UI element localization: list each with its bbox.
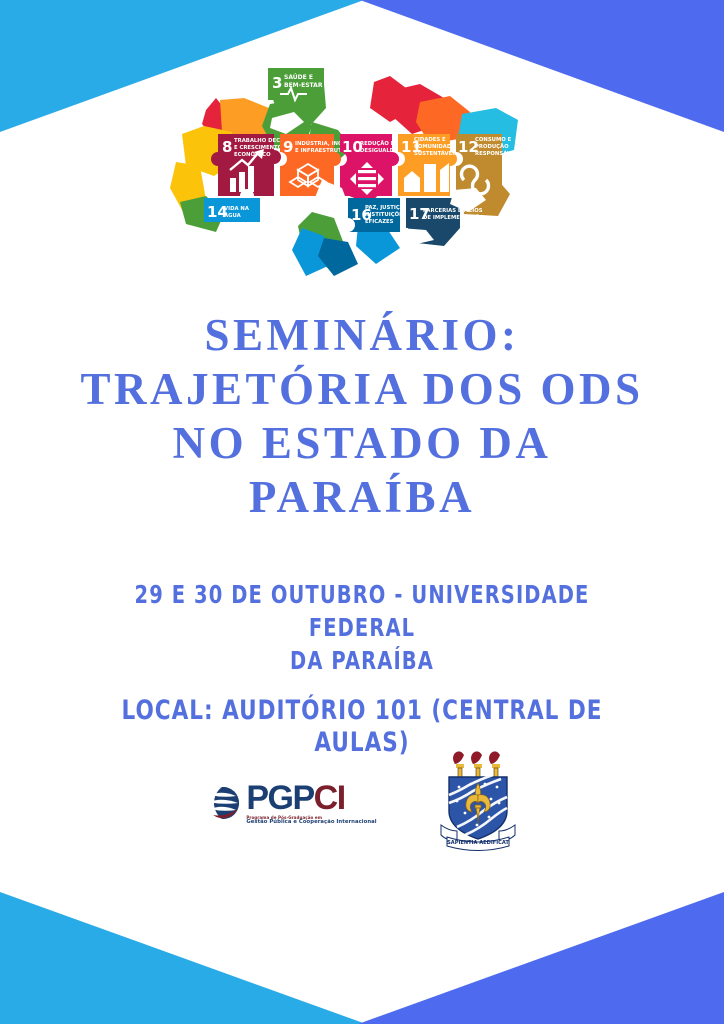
sdg-3-label-line1: SAÚDE E <box>284 74 313 81</box>
pgpci-acronym-part2: CI <box>314 781 345 815</box>
pgpci-tagline-line2: Gestão Pública e Cooperação Internaciona… <box>246 820 376 825</box>
background-wedge-bottom-right <box>358 892 724 1024</box>
title-line-1: SEMINÁRIO: <box>0 308 724 362</box>
torches-icon <box>453 751 500 778</box>
sdg-9-number: 9 <box>283 138 293 156</box>
poster-subtitle: 29 E 30 DE OUTUBRO - UNIVERSIDADE FEDERA… <box>0 578 724 677</box>
sdg-12-label-line2: PRODUÇÃO <box>475 143 509 150</box>
poster-canvas: 3 SAÚDE E BEM-ESTAR 8 TRABALHO DECENTE E… <box>0 0 724 1024</box>
sdg-11-label-line1: CIDADES E <box>414 137 446 143</box>
sdg-tile-16: 16 PAZ, JUSTIÇA E INSTITUIÇÕES EFICAZES <box>348 198 410 232</box>
sdg-17-label-line1: PARCERIAS E MEIOS <box>423 208 483 214</box>
title-line-4: PARAÍBA <box>0 470 724 524</box>
poster-title: SEMINÁRIO: TRAJETÓRIA DOS ODS NO ESTADO … <box>0 308 724 524</box>
title-line-3: NO ESTADO DA <box>0 416 724 470</box>
subtitle-line-2: DA PARAÍBA <box>80 644 645 677</box>
sdg-8-number: 8 <box>222 138 232 156</box>
sdg-17-label-line2: DE IMPLEMENTAÇÃO <box>423 214 485 221</box>
title-line-2: TRAJETÓRIA DOS ODS <box>0 362 724 416</box>
sdg-10-label-line1: REDUÇÃO DAS <box>360 140 403 147</box>
sdg-paraiba-map: 3 SAÚDE E BEM-ESTAR 8 TRABALHO DECENTE E… <box>0 52 724 292</box>
sdg-11-label-line3: SUSTENTÁVEIS <box>414 150 458 157</box>
background-wedge-bottom-left <box>0 892 366 1024</box>
sdg-16-label-line2: INSTITUIÇÕES <box>365 211 407 218</box>
pgpci-logo: PGPCI Programa de Pós-Graduação em Gestã… <box>203 781 376 826</box>
pgpci-wordmark: PGPCI Programa de Pós-Graduação em Gestã… <box>246 781 376 826</box>
subtitle-line-1: 29 E 30 DE OUTUBRO - UNIVERSIDADE FEDERA… <box>80 578 645 644</box>
sdg-12-label-line3: RESPONSÁVEIS <box>475 150 521 157</box>
sdg-tile-3: 3 SAÚDE E BEM-ESTAR <box>268 68 324 100</box>
sdg-14-label-line2: ÁGUA <box>224 212 242 219</box>
sdg-11-label-line2: COMUNIDADES <box>414 144 459 150</box>
sdg-tile-14: 14 VIDA NA ÁGUA <box>204 198 260 222</box>
ufpb-motto: SAPIENTIA AEDIFICAT <box>447 840 509 846</box>
pgpci-acronym-part1: PGP <box>246 781 313 815</box>
sdg-16-label-line1: PAZ, JUSTIÇA E <box>365 205 410 211</box>
sdg-16-label-line3: EFICAZES <box>365 219 394 225</box>
sdg-3-number: 3 <box>272 74 282 92</box>
sdg-3-label-line2: BEM-ESTAR <box>284 82 323 89</box>
pgpci-tagline: Programa de Pós-Graduação em Gestão Públ… <box>246 815 376 826</box>
sdg-8-label-line2: E CRESCIMENTO <box>234 145 283 151</box>
sdg-tile-11: 11 CIDADES E COMUNIDADES SUSTENTÁVEIS <box>398 134 460 196</box>
sdg-12-label-line1: CONSUMO E <box>475 137 512 143</box>
logo-row: PGPCI Programa de Pós-Graduação em Gestã… <box>0 748 724 858</box>
ufpb-logo: SAPIENTIA AEDIFICAT <box>435 751 521 856</box>
sdg-8-label-line3: ECONÔMICO <box>234 151 271 158</box>
globe-icon <box>203 783 243 823</box>
sdg-14-label-line1: VIDA NA <box>224 206 250 212</box>
